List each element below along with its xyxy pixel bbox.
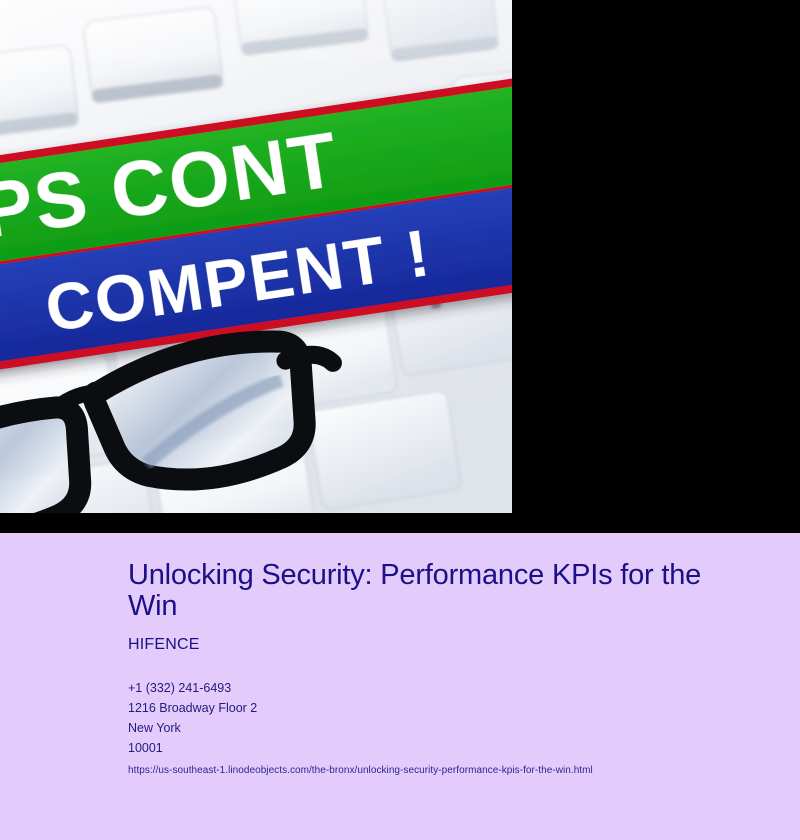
source-url[interactable]: https://us-southeast-1.linodeobjects.com… <box>128 764 748 778</box>
contact-postal-code: 10001 <box>128 738 748 758</box>
brand-name: HIFENCE <box>128 636 748 654</box>
contact-street: 1216 Broadway Floor 2 <box>128 698 748 718</box>
contact-block: +1 (332) 241-6493 1216 Broadway Floor 2 … <box>128 678 748 758</box>
keyboard-photo-illustration: UPS CONT COMPENT ! <box>0 0 512 513</box>
page-title: Unlocking Security: Performance KPIs for… <box>128 560 743 622</box>
hero-image: UPS CONT COMPENT ! <box>0 0 512 513</box>
contact-phone[interactable]: +1 (332) 241-6493 <box>128 678 748 698</box>
contact-city: New York <box>128 718 748 738</box>
separator-band <box>0 513 800 533</box>
content-container: Unlocking Security: Performance KPIs for… <box>128 560 748 778</box>
content-panel: Unlocking Security: Performance KPIs for… <box>0 533 800 840</box>
